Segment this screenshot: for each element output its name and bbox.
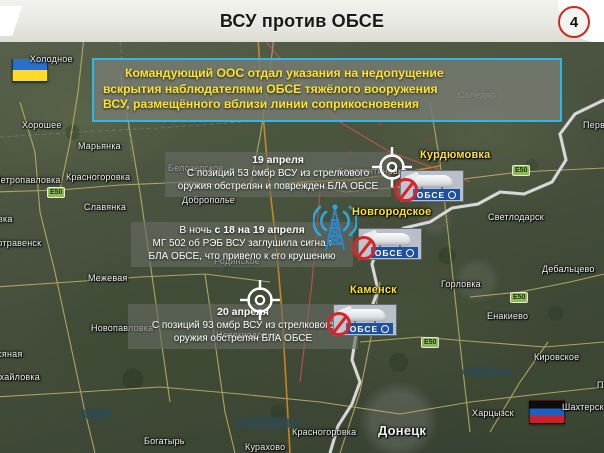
map-label: михайловка [0, 372, 40, 382]
incident-label-novgorodskoe: Новгородское [352, 206, 431, 218]
map-label: осяная [0, 349, 22, 359]
callout-text-1-line-1: С позиций 53 омбр ВСУ из стрелкового [172, 167, 384, 180]
map-label: Перво [583, 120, 604, 130]
map-label: Межевая [88, 273, 128, 283]
incident-label-kamensk: Каменск [350, 284, 397, 296]
map-label: Светлодарск [488, 212, 544, 222]
page-number-badge: 4 [558, 6, 590, 38]
no-entry-icon-3 [327, 312, 351, 336]
road-shield-e50: E50 [512, 165, 530, 176]
map-label: Горловка [441, 279, 481, 289]
road-shield-e50: E50 [421, 337, 439, 348]
map-canvas[interactable]: E50 E50 E50 E50 ХолодноеХорошееМарьянкаП… [0, 42, 604, 453]
callout-text-3-line-1: С позиций 93 омбр ВСУ из стрелкового [135, 319, 351, 332]
osce-logo-3: ОБСЕ [346, 323, 393, 334]
road-shield-e50: E50 [510, 292, 528, 303]
map-label: вка [0, 214, 13, 224]
map-label: Дебальцево [542, 264, 595, 274]
osce-logo-2: ОБСЕ [371, 247, 418, 258]
title-bar: ВСУ против ОБСЕ 4 [0, 0, 604, 43]
no-entry-icon-2 [352, 236, 376, 260]
banner-line-1: Командующий ООС отдал указания на недопу… [103, 66, 551, 82]
page-title: ВСУ против ОБСЕ [0, 0, 604, 42]
map-label: Холодное [30, 54, 73, 64]
map-label: Шахтерск [562, 402, 604, 412]
map-label: Красногоровка [292, 427, 356, 437]
callout-date-1: 19 апреля [172, 154, 384, 167]
banner-line-2: вскрытия наблюдателями ОБСЕ тяжёлого воо… [103, 82, 551, 98]
callout-text-3-line-2: оружия обстрелян БЛА ОБСЕ [135, 332, 351, 345]
map-label: Кировское [534, 352, 579, 362]
map-label: П [597, 380, 604, 390]
osce-logo-1: ОБСЕ [413, 189, 460, 200]
incident-label-kurdyumovka: Курдюмовка [420, 149, 490, 161]
map-label: Марьянка [78, 141, 121, 151]
crosshair-icon [240, 280, 280, 320]
map-label: Богатырь [144, 436, 185, 446]
dnr-flag [529, 400, 565, 424]
directive-banner: Командующий ООС отдал указания на недопу… [92, 58, 562, 122]
jamming-tower-icon [313, 200, 357, 252]
map-label: Харцызск [472, 408, 514, 418]
map-label: Донецк [378, 423, 426, 438]
map-label: Славянка [84, 202, 126, 212]
road-shield-e50: E50 [47, 187, 65, 198]
map-label: Петропавловка [0, 175, 61, 185]
banner-line-3: ВСУ, размещённого вблизи линии соприкосн… [103, 97, 551, 113]
map-label: шотравенск [0, 238, 41, 248]
map-label: Хорошее [22, 120, 62, 130]
map-label: Красногоровка [66, 172, 130, 182]
slide-root: ВСУ против ОБСЕ 4 [0, 0, 604, 453]
callout-text-1-line-2: оружия обстрелян и поврежден БЛА ОБСЕ [172, 180, 384, 193]
map-label: Курахово [245, 442, 285, 452]
map-label: Енакиево [487, 311, 528, 321]
